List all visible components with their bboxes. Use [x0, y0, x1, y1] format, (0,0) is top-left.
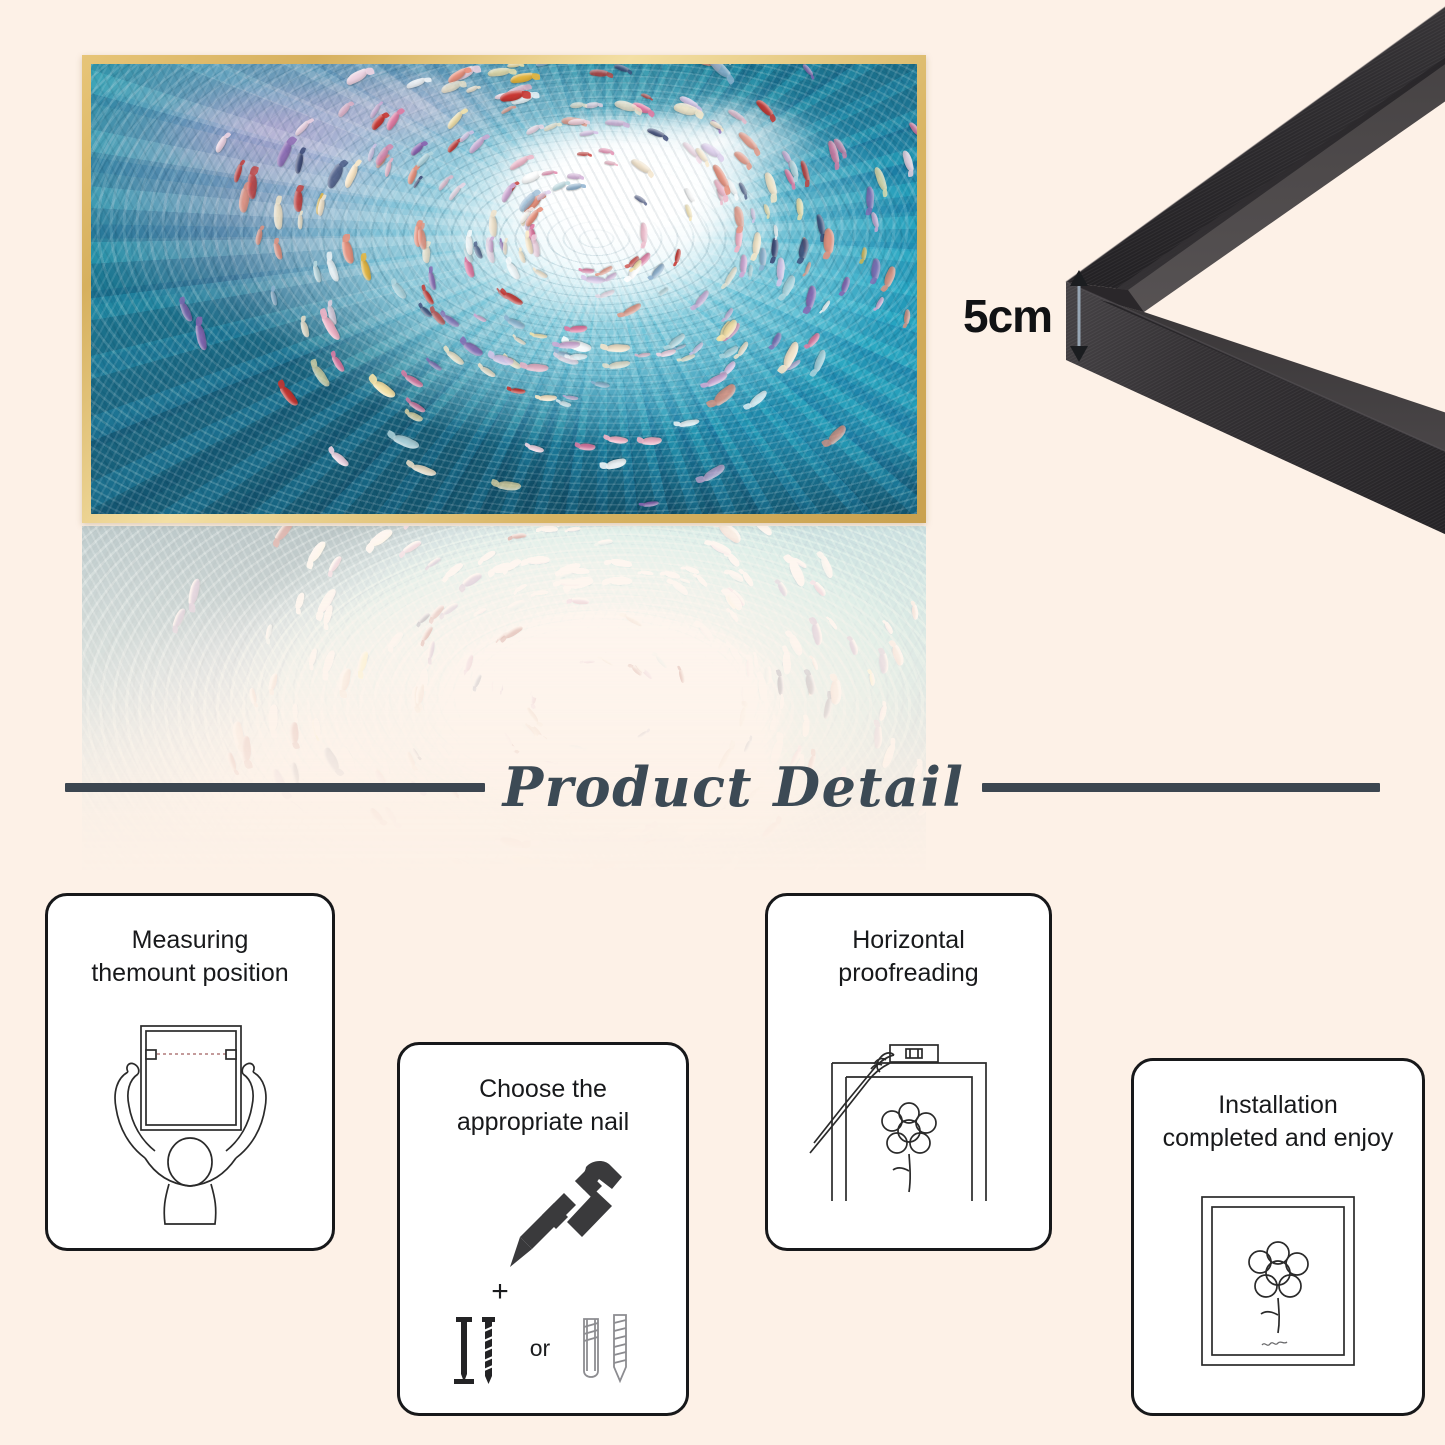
hand-with-spirit-level-on-frame-icon [768, 990, 1049, 1248]
hammer-and-nails-icon [400, 1139, 686, 1301]
page-title: Product Detail [503, 755, 965, 819]
person-holding-frame-to-wall-icon [48, 990, 332, 1248]
fish [487, 680, 494, 693]
product-detail-page: 5cm Product Detail Measuring themount po… [0, 0, 1445, 1445]
card-title: Measuring themount position [79, 924, 300, 990]
card-title: Choose the appropriate nail [445, 1073, 641, 1139]
dimension-label: 5cm [963, 293, 1052, 339]
fish [465, 235, 472, 255]
instruction-card-measuring[interactable]: Measuring themount position [45, 893, 335, 1251]
frame-depth-dimension: 5cm [963, 268, 1092, 364]
frame-corner-svg [1040, 0, 1445, 580]
instruction-card-installation[interactable]: Installation completed and enjoy [1131, 1058, 1425, 1416]
double-arrow-icon [1066, 268, 1092, 364]
hammer-icon [436, 1149, 651, 1284]
black-wood-frame-corner [1040, 0, 1445, 580]
card-title: Installation completed and enjoy [1151, 1089, 1406, 1155]
card-title: Horizontal proofreading [826, 924, 990, 990]
fastener-options-row: or [452, 1309, 634, 1387]
or-label: or [530, 1335, 550, 1362]
fish [774, 225, 778, 237]
fish [639, 222, 647, 243]
product-detail-heading-row: Product Detail [0, 742, 1445, 832]
hung-framed-flower-picture-icon [1134, 1155, 1422, 1413]
instruction-card-nail[interactable]: Choose the appropriate nail [397, 1042, 689, 1416]
painting-canvas [91, 64, 917, 514]
heading-rule-right [982, 783, 1380, 792]
instruction-card-proofreading[interactable]: Horizontal proofreading [765, 893, 1052, 1251]
framed-artwork [82, 55, 926, 523]
heading-rule-left [65, 783, 485, 792]
nails-icon [452, 1309, 504, 1387]
wall-anchor-and-screw-icon [576, 1309, 634, 1387]
plus-symbol: + [491, 1277, 509, 1307]
fish [780, 697, 784, 709]
gold-frame [82, 55, 926, 523]
